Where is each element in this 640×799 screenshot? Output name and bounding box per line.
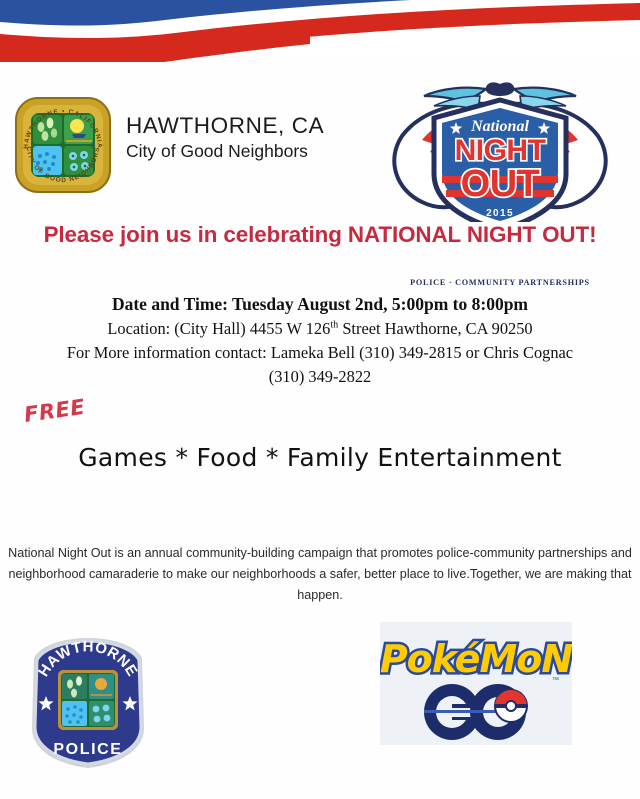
city-name-block: HAWTHORNE, CA City of Good Neighbors bbox=[126, 114, 376, 161]
national-night-out-logo-icon: National NIGHT OUT 2015 ® bbox=[380, 32, 620, 222]
event-location-pre: Location: (City Hall) 4455 W 126 bbox=[107, 319, 330, 338]
flyer-page: HAWTHORNE • CALIFORNIA CITY OF GOOD NEIG… bbox=[0, 0, 640, 799]
event-contact: For More information contact: Lameka Bel… bbox=[0, 341, 640, 365]
nno-word-out: OUT bbox=[461, 163, 540, 205]
patch-bottom-text: POLICE bbox=[53, 741, 122, 758]
page-headline: Please join us in celebrating NATIONAL N… bbox=[0, 222, 640, 248]
hawthorne-city-seal-icon: HAWTHORNE • CALIFORNIA CITY OF GOOD NEIG… bbox=[14, 96, 112, 194]
patch-quadrant-4 bbox=[89, 701, 114, 726]
city-name: HAWTHORNE, CA bbox=[126, 114, 376, 138]
event-location: Location: (City Hall) 4455 W 126th Stree… bbox=[0, 317, 640, 341]
activities-line: Games * Food * Family Entertainment bbox=[0, 443, 640, 472]
nno-script-word: National bbox=[470, 118, 529, 135]
description-paragraph: National Night Out is an annual communit… bbox=[8, 543, 632, 606]
pokemon-go-logo-icon: PokéMoN ™ bbox=[380, 622, 572, 745]
free-label: FREE bbox=[23, 395, 87, 427]
event-date-time: Date and Time: Tuesday August 2nd, 5:00p… bbox=[0, 292, 640, 317]
pokemon-wordmark: PokéMoN bbox=[380, 637, 572, 681]
city-tagline: City of Good Neighbors bbox=[126, 142, 376, 161]
event-secondary-phone: (310) 349-2822 bbox=[0, 365, 640, 389]
event-details: Date and Time: Tuesday August 2nd, 5:00p… bbox=[0, 292, 640, 389]
hawthorne-police-patch-icon: HAWTHORNE POLICE bbox=[22, 632, 154, 774]
nno-tagline: POLICE · COMMUNITY PARTNERSHIPS bbox=[380, 278, 620, 287]
nno-year: 2015 bbox=[486, 208, 514, 219]
logo-row: HAWTHORNE • CALIFORNIA CITY OF GOOD NEIG… bbox=[0, 78, 640, 218]
pokemon-tm-mark: ™ bbox=[552, 677, 559, 684]
event-location-post: Street Hawthorne, CA 90250 bbox=[338, 319, 532, 338]
